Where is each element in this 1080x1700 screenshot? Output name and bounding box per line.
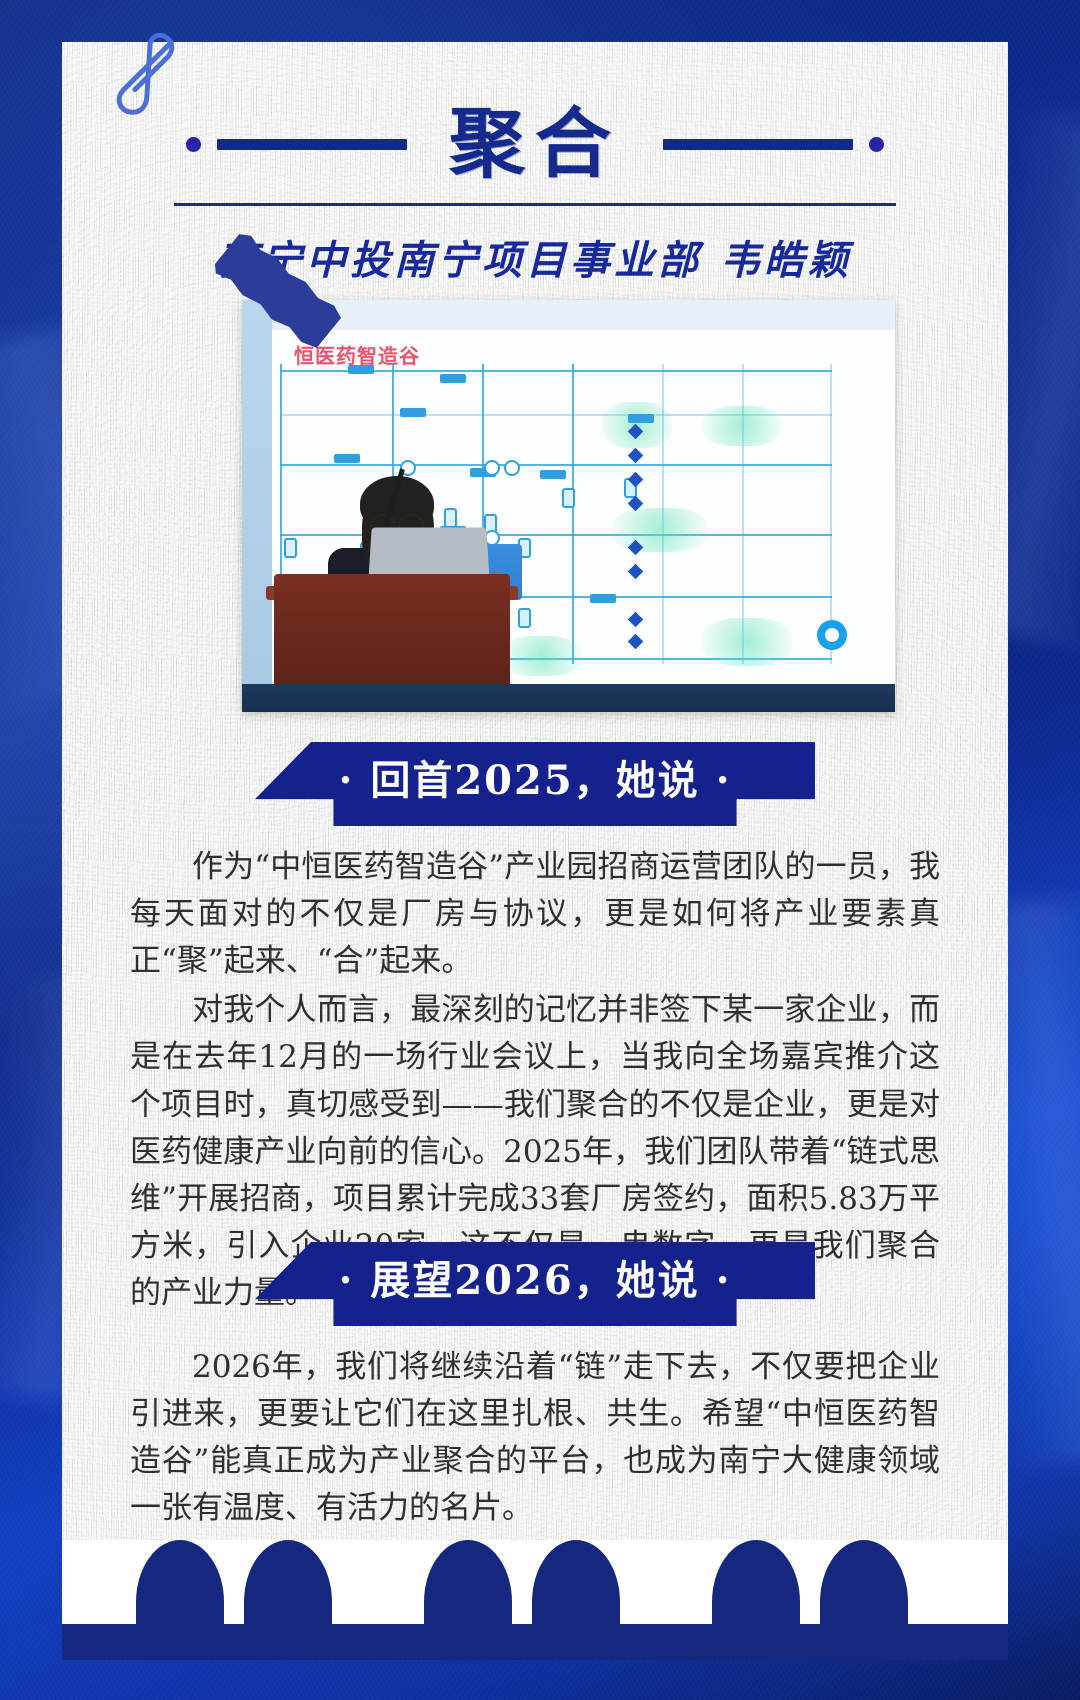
scallop-arch xyxy=(424,1540,512,1624)
bullet-dot-left-icon xyxy=(186,137,201,152)
speaker-photo: 恒医药智造谷 xyxy=(242,300,895,712)
scallop-bar xyxy=(62,1624,1008,1660)
podium xyxy=(274,574,510,686)
scallop-arch xyxy=(244,1540,332,1624)
scallop-arch xyxy=(532,1540,620,1624)
section-1: · 回首2025，她说 · 作为“中恒医药智造谷”产业园招商运营团队的一员，我每… xyxy=(130,742,940,1319)
section-1-banner-label: · 回首2025，她说 · xyxy=(255,748,815,806)
title-rule-right xyxy=(663,139,853,150)
section-2-banner-label: · 展望2026，她说 · xyxy=(255,1248,815,1306)
photo-wall xyxy=(242,300,274,712)
section-2: · 展望2026，她说 · 2026年，我们将继续沿着“链”走下去，不仅要把企业… xyxy=(130,1242,940,1534)
bullet-dot-right-icon xyxy=(869,137,884,152)
paper-card: 聚合 南宁中投南宁项目事业部 韦皓颖 恒医药智造谷 xyxy=(62,42,1008,1660)
scallop-arch xyxy=(820,1540,908,1624)
screen-header-band xyxy=(272,300,895,330)
section-2-banner: · 展望2026，她说 · xyxy=(255,1242,815,1326)
poster-canvas: 聚合 南宁中投南宁项目事业部 韦皓颖 恒医药智造谷 xyxy=(0,0,1080,1700)
poster-title-row: 聚合 xyxy=(62,94,1008,194)
photo-floor xyxy=(242,684,895,712)
page-subtitle: 南宁中投南宁项目事业部 韦皓颖 xyxy=(62,228,1008,286)
g-logo-icon xyxy=(817,620,847,650)
section-1-banner: · 回首2025，她说 · xyxy=(255,742,815,826)
title-rule-left xyxy=(217,139,407,150)
page-title: 聚合 xyxy=(449,106,621,182)
paragraph: 作为“中恒医药智造谷”产业园招商运营团队的一员，我每天面对的不仅是厂房与协议，更… xyxy=(130,844,940,985)
scalloped-footer xyxy=(62,1540,1008,1660)
scallop-arches xyxy=(62,1540,1008,1624)
title-divider xyxy=(174,203,896,206)
scallop-arch xyxy=(136,1540,224,1624)
paragraph: 2026年，我们将继续沿着“链”走下去，不仅要把企业引进来，更要让它们在这里扎根… xyxy=(130,1344,940,1532)
scallop-arch xyxy=(712,1540,800,1624)
section-2-body: 2026年，我们将继续沿着“链”走下去，不仅要把企业引进来，更要让它们在这里扎根… xyxy=(130,1344,940,1532)
speaker-photo-container: 恒医药智造谷 xyxy=(242,300,895,712)
